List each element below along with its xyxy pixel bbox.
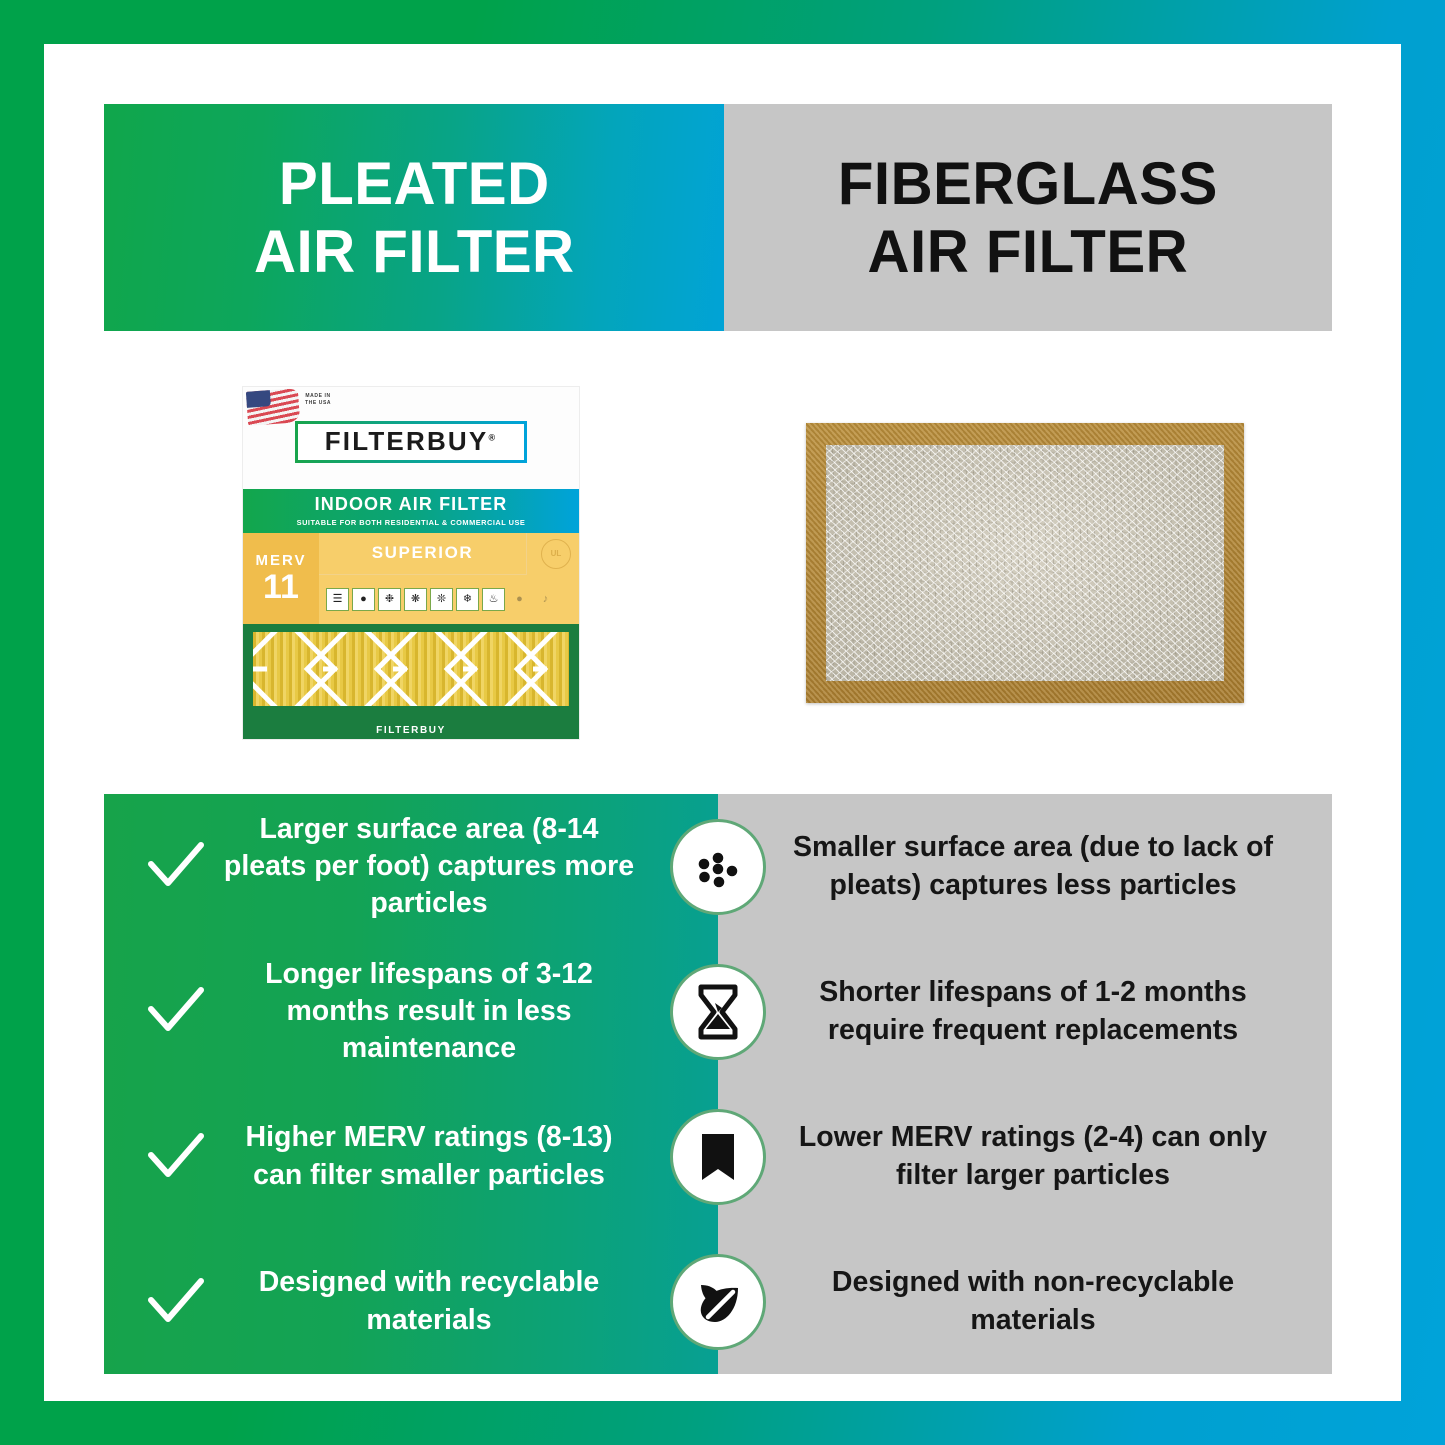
row-right-text: Lower MERV ratings (2-4) can only filter… [788, 1119, 1278, 1193]
leaf-icon [670, 1254, 766, 1350]
comparison-row: Larger surface area (8-14 pleats per foo… [104, 794, 1332, 939]
checkmark-icon [134, 987, 218, 1035]
filterbuy-logo-box: FILTERBUY® [295, 421, 527, 463]
hourglass-icon [670, 964, 766, 1060]
comparison-table: Larger surface area (8-14 pleats per foo… [104, 794, 1332, 1374]
header-fiberglass-line2: AIR FILTER [868, 218, 1189, 285]
band-subtitle: SUITABLE FOR BOTH RESIDENTIAL & COMMERCI… [297, 518, 526, 527]
made-in-usa-text: MADE IN THE USA [305, 393, 331, 408]
row-left-cell: Longer lifespans of 3-12 months result i… [104, 956, 718, 1067]
particles-icon [670, 819, 766, 915]
header-pleated-line1: PLEATED [279, 150, 550, 217]
mold-icon: ❊ [430, 588, 453, 611]
row-left-text: Longer lifespans of 3-12 months result i… [218, 956, 718, 1067]
comparison-row: Longer lifespans of 3-12 months result i… [104, 939, 1332, 1084]
bug-icon: ● [352, 588, 375, 611]
certification-seal-icon: UL [541, 539, 571, 569]
row-right-text: Shorter lifespans of 1-2 months require … [788, 974, 1278, 1048]
checkmark-icon [134, 1278, 218, 1326]
yellow-pleats [253, 632, 569, 706]
pet-dander-icon: ❄ [456, 588, 479, 611]
smoke-icon: ♨ [482, 588, 505, 611]
bookmark-icon [670, 1109, 766, 1205]
row-right-cell: Shorter lifespans of 1-2 months require … [718, 974, 1332, 1048]
filterbuy-box-image: MADE IN THE USA FILTERBUY® INDOOR AIR FI… [243, 387, 579, 739]
pleated-media-artwork: FILTERBUY [243, 624, 579, 739]
fiberglass-mesh [826, 445, 1224, 681]
header-pleated-title: PLEATED AIR FILTER [254, 150, 575, 284]
poster-frame: PLEATED AIR FILTER FIBERGLASS AIR FILTER… [0, 0, 1445, 1445]
merv-value: 11 [263, 570, 299, 604]
header-fiberglass-line1: FIBERGLASS [838, 150, 1218, 217]
row-right-text: Designed with non-recyclable materials [788, 1264, 1278, 1338]
made-in-line1: MADE IN [305, 393, 330, 399]
usa-flag-icon [246, 388, 300, 426]
row-left-text: Larger surface area (8-14 pleats per foo… [218, 811, 718, 922]
header-fiberglass-title: FIBERGLASS AIR FILTER [838, 150, 1218, 284]
fiberglass-filter-image [806, 423, 1244, 703]
dust-icon: ☰ [326, 588, 349, 611]
band-title: INDOOR AIR FILTER [315, 494, 508, 515]
fiberglass-product-cell [718, 331, 1332, 794]
tier-label: SUPERIOR [319, 533, 527, 575]
filterbuy-logo-text: FILTERBUY® [325, 426, 498, 457]
bacteria-icon: ● [508, 588, 531, 611]
pollen-icon: ❋ [404, 588, 427, 611]
pleated-product-cell: MADE IN THE USA FILTERBUY® INDOOR AIR FI… [104, 331, 718, 794]
capability-icon-strip: ☰ ● ❉ ❋ ❊ ❄ ♨ ● ♪ [319, 575, 579, 624]
inner-white-card: PLEATED AIR FILTER FIBERGLASS AIR FILTER… [44, 44, 1401, 1401]
row-right-text: Smaller surface area (due to lack of ple… [788, 829, 1278, 903]
merv-label: MERV [255, 552, 306, 569]
header-band: PLEATED AIR FILTER FIBERGLASS AIR FILTER [104, 104, 1332, 331]
comparison-row: Designed with recyclable materials Desig… [104, 1229, 1332, 1374]
row-left-text: Designed with recyclable materials [218, 1264, 718, 1338]
row-left-text: Higher MERV ratings (8-13) can filter sm… [218, 1119, 718, 1193]
row-left-cell: Higher MERV ratings (8-13) can filter sm… [104, 1119, 718, 1193]
row-right-cell: Lower MERV ratings (2-4) can only filter… [718, 1119, 1332, 1193]
filterbuy-wordmark: FILTERBUY [325, 426, 489, 456]
product-image-row: MADE IN THE USA FILTERBUY® INDOOR AIR FI… [104, 331, 1332, 794]
indoor-air-filter-band: INDOOR AIR FILTER SUITABLE FOR BOTH RESI… [243, 489, 579, 533]
header-pleated-line2: AIR FILTER [254, 218, 575, 285]
registered-mark: ® [488, 432, 497, 442]
box-footer-brand: FILTERBUY [243, 725, 579, 736]
header-pleated: PLEATED AIR FILTER [104, 104, 724, 331]
row-right-cell: Smaller surface area (due to lack of ple… [718, 829, 1332, 903]
row-right-cell: Designed with non-recyclable materials [718, 1264, 1332, 1338]
checkmark-icon [134, 842, 218, 890]
checkmark-icon [134, 1133, 218, 1181]
merv-badge: MERV 11 [243, 533, 319, 624]
header-fiberglass: FIBERGLASS AIR FILTER [724, 104, 1332, 331]
made-in-line2: THE USA [305, 400, 331, 406]
odor-icon: ♪ [534, 588, 557, 611]
row-left-cell: Larger surface area (8-14 pleats per foo… [104, 811, 718, 922]
row-left-cell: Designed with recyclable materials [104, 1264, 718, 1338]
merv-panel: MERV 11 SUPERIOR UL ☰ ● ❉ ❋ ❊ ❄ ♨ [243, 533, 579, 624]
virus-icon: ❉ [378, 588, 401, 611]
comparison-rows: Larger surface area (8-14 pleats per foo… [104, 794, 1332, 1374]
comparison-row: Higher MERV ratings (8-13) can filter sm… [104, 1084, 1332, 1229]
